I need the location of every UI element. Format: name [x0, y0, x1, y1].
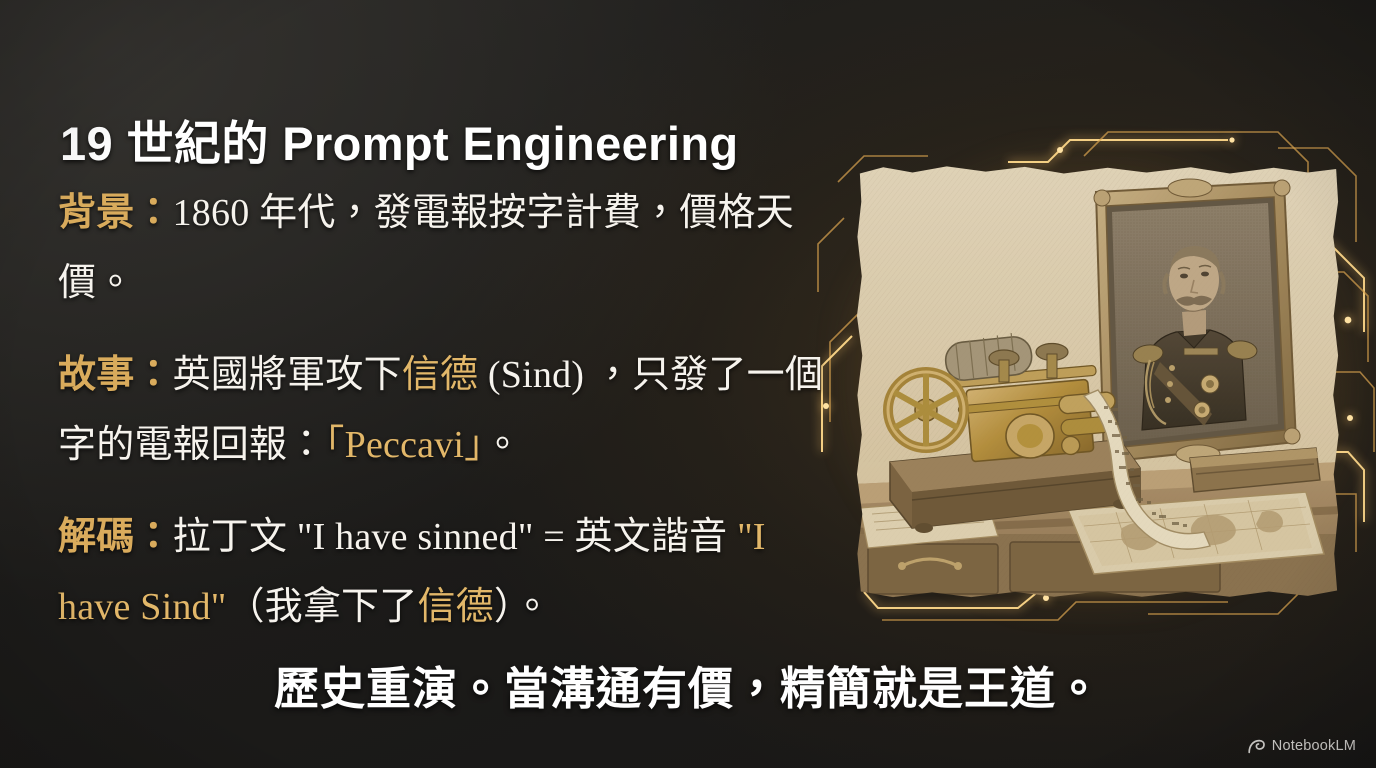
- parchment-card: [854, 162, 1342, 602]
- paragraph-highlight-peccavi: 「Peccavi」: [325, 424, 483, 466]
- paragraph-segment: （我拿下了: [226, 586, 417, 628]
- paragraph-segment: 英國將軍攻下: [173, 354, 402, 396]
- paragraph-decode: 解碼：拉丁文 "I have sinned" = 英文諧音 "I have Si…: [58, 502, 828, 642]
- paragraph-story: 故事：英國將軍攻下信德 (Sind) ，只發了一個字的電報回報：「Peccavi…: [58, 340, 828, 480]
- notebooklm-watermark: NotebookLM: [1248, 738, 1356, 754]
- paragraph-segment: ）。: [494, 586, 551, 628]
- paragraph-background: 背景：1860 年代，發電報按字計費，價格天價。: [58, 178, 828, 318]
- notebooklm-label: NotebookLM: [1272, 738, 1356, 754]
- paragraph-segment: 。: [483, 424, 521, 466]
- paragraph-label: 背景: [58, 192, 134, 234]
- paragraph-label: 解碼: [58, 516, 134, 558]
- illustration: [830, 140, 1360, 620]
- slide-root: 19 世紀的 Prompt Engineering 背景：1860 年代，發電報…: [0, 0, 1376, 768]
- paragraph-segment: 拉丁文 "I have sinned" = 英文諧音: [173, 516, 737, 558]
- page-title: 19 世紀的 Prompt Engineering: [60, 105, 739, 174]
- paragraph-separator: ：: [134, 516, 172, 558]
- notebooklm-spiral-icon: [1248, 739, 1265, 754]
- paragraph-highlight-sind-zh: 信德: [417, 586, 493, 628]
- paragraph-highlight-sind-zh: 信德: [402, 354, 478, 396]
- telegraph-scene: [854, 162, 1342, 602]
- body-text-column: 背景：1860 年代，發電報按字計費，價格天價。 故事：英國將軍攻下信德 (Si…: [58, 178, 828, 642]
- paragraph-separator: ：: [134, 354, 172, 396]
- footer-tagline: 歷史重演。當溝通有價，精簡就是王道。: [0, 652, 1376, 717]
- paragraph-label: 故事: [58, 354, 134, 396]
- paragraph-separator: ：: [134, 192, 172, 234]
